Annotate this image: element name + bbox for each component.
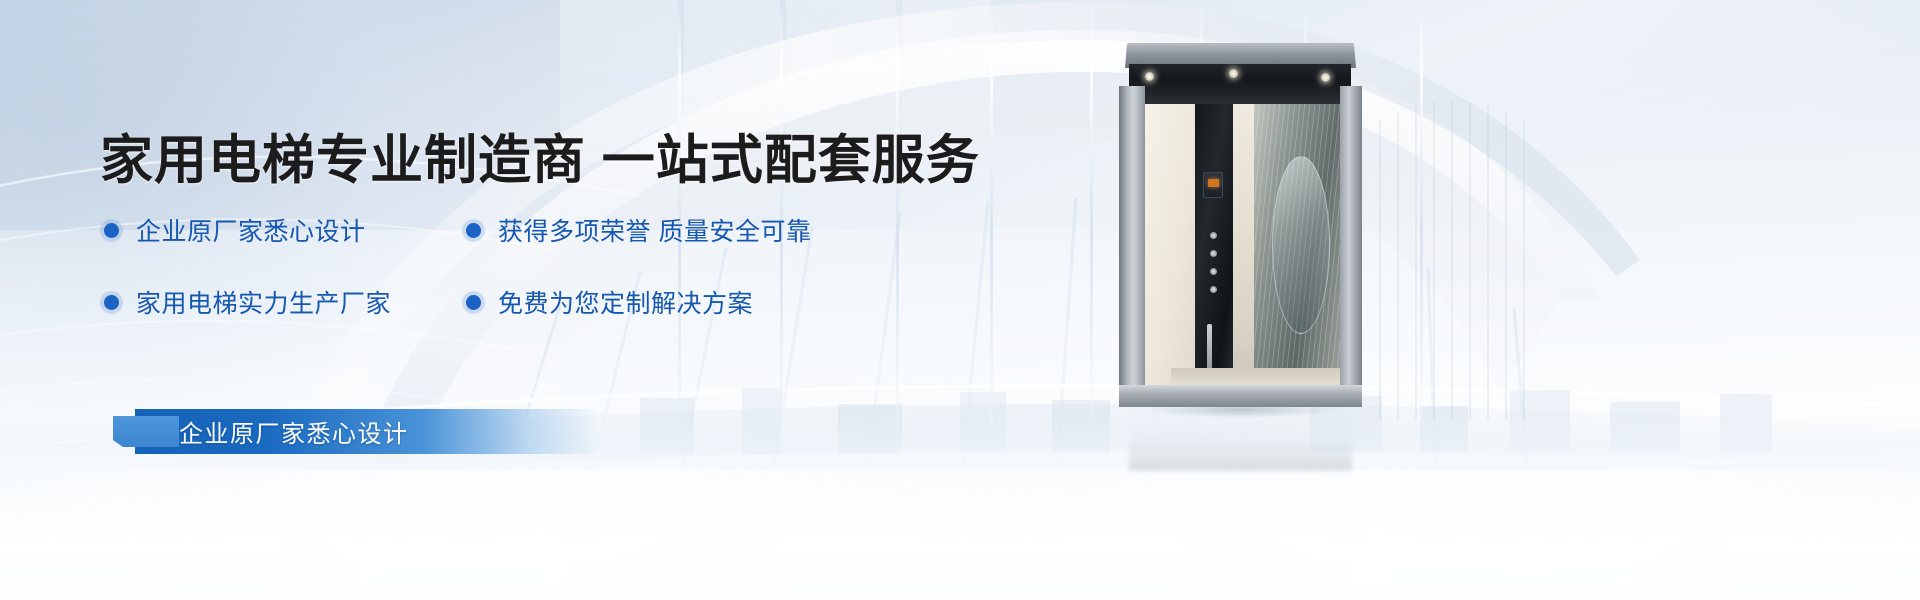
elevator-door-sill [1119, 385, 1362, 407]
feature-item: 免费为您定制解决方案 [466, 284, 753, 320]
feature-row: 企业原厂家悉心设计 获得多项荣誉 质量安全可靠 [104, 212, 924, 248]
floor-specular-highlight [0, 470, 1920, 600]
ribbon-flag-icon [113, 416, 179, 447]
bullet-dot-icon [466, 295, 481, 310]
bullet-dot-icon [466, 223, 481, 238]
bullet-dot-icon [104, 223, 119, 238]
elevator-frame [1119, 60, 1362, 407]
elevator-floor-reflection [1129, 409, 1352, 471]
feature-item: 家用电梯实力生产厂家 [104, 284, 466, 320]
home-elevator-cabin-image [1119, 42, 1362, 407]
feature-label: 免费为您定制解决方案 [498, 284, 753, 320]
feature-row: 家用电梯实力生产厂家 免费为您定制解决方案 [104, 284, 924, 320]
bullet-dot-icon [104, 295, 119, 310]
page-title: 家用电梯专业制造商 一站式配套服务 [100, 118, 980, 194]
floor-button-icon[interactable] [1210, 286, 1217, 293]
feature-label: 家用电梯实力生产厂家 [136, 284, 391, 320]
feature-item: 获得多项荣誉 质量安全可靠 [466, 212, 811, 248]
floor-button-icon[interactable] [1210, 268, 1217, 275]
highlight-tag-label: 企业原厂家悉心设计 [179, 414, 409, 449]
highlight-tag-bar[interactable]: 企业原厂家悉心设计 [135, 409, 600, 454]
control-panel-display[interactable] [1203, 172, 1223, 198]
elevator-right-jamb [1340, 86, 1362, 404]
floor-button-icon[interactable] [1210, 250, 1217, 257]
cabin-oval-mirror [1272, 156, 1330, 334]
elevator-cabin-interior [1145, 104, 1340, 404]
feature-label: 获得多项荣誉 质量安全可靠 [498, 212, 811, 248]
feature-item: 企业原厂家悉心设计 [104, 212, 466, 248]
feature-list: 企业原厂家悉心设计 获得多项荣誉 质量安全可靠 家用电梯实力生产厂家 免费为您定… [104, 212, 924, 320]
elevator-left-jamb [1119, 86, 1145, 404]
feature-label: 企业原厂家悉心设计 [136, 212, 366, 248]
floor-button-icon[interactable] [1210, 232, 1217, 239]
promo-banner: 家用电梯专业制造商 一站式配套服务 企业原厂家悉心设计 获得多项荣誉 质量安全可… [0, 0, 1920, 600]
